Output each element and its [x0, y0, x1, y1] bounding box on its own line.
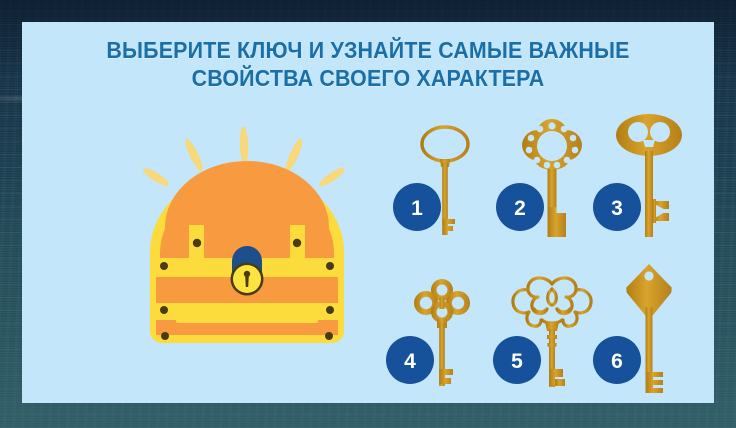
badge-6-label: 6	[611, 350, 623, 373]
key-5[interactable]	[513, 278, 591, 326]
key-5-shaft[interactable]	[545, 322, 565, 387]
chest-lock	[231, 246, 264, 296]
treasure-chest	[132, 127, 362, 357]
content-panel: ВЫБЕРИТЕ КЛЮЧ И УЗНАЙТЕ САМЫЕ ВАЖНЫЕ СВО…	[22, 22, 714, 403]
badge-5-label: 5	[511, 350, 523, 373]
title-line-1: ВЫБЕРИТЕ КЛЮЧ И УЗНАЙТЕ САМЫЕ ВАЖНЫЕ	[46, 36, 690, 64]
badge-2-label: 2	[514, 197, 526, 220]
keys-grid: 1	[377, 107, 727, 407]
title-line-2: СВОЙСТВА СВОЕГО ХАРАКТЕРА	[46, 64, 690, 92]
badge-4-label: 4	[404, 350, 416, 373]
badge-3-label: 3	[611, 197, 623, 220]
chest-body	[150, 161, 344, 343]
badge-1-label: 1	[411, 197, 423, 220]
page-title: ВЫБЕРИТЕ КЛЮЧ И УЗНАЙТЕ САМЫЕ ВАЖНЫЕ СВО…	[22, 36, 714, 92]
